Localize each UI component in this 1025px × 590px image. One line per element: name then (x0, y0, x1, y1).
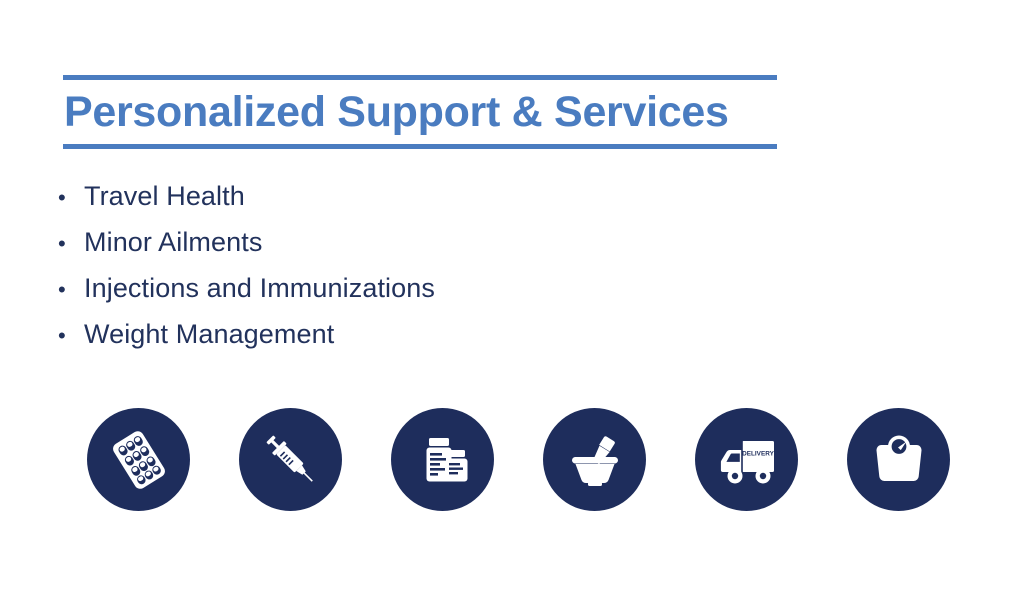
services-bullet-list: • Travel Health • Minor Ailments • Injec… (55, 181, 435, 365)
list-item-label: Minor Ailments (84, 227, 262, 258)
icon-circle-delivery-truck: DELIVERY (695, 408, 798, 511)
mortar-and-pestle-icon (561, 426, 629, 494)
blister-pack-icon (105, 426, 173, 494)
icon-circle-mortar-and-pestle (543, 408, 646, 511)
title-rule-bottom (63, 144, 777, 149)
icon-circle-syringe (239, 408, 342, 511)
list-item: • Injections and Immunizations (55, 273, 435, 319)
icon-circle-weight-scale (847, 408, 950, 511)
icon-circle-pill-bottles (391, 408, 494, 511)
bullet-marker-icon: • (55, 233, 84, 255)
list-item: • Weight Management (55, 319, 435, 365)
list-item-label: Weight Management (84, 319, 334, 350)
syringe-icon (257, 426, 325, 494)
bullet-marker-icon: • (55, 187, 84, 209)
list-item: • Minor Ailments (55, 227, 435, 273)
list-item-label: Injections and Immunizations (84, 273, 435, 304)
slide-canvas: Personalized Support & Services • Travel… (0, 0, 1025, 590)
delivery-truck-icon: DELIVERY (711, 424, 783, 496)
bullet-marker-icon: • (55, 325, 84, 347)
pill-bottles-icon (409, 426, 477, 494)
title-block: Personalized Support & Services (63, 75, 777, 149)
truck-delivery-label: DELIVERY (742, 450, 774, 457)
weight-scale-icon (865, 426, 933, 494)
list-item-label: Travel Health (84, 181, 245, 212)
icon-row: DELIVERY (87, 408, 950, 511)
page-title: Personalized Support & Services (63, 80, 777, 144)
bullet-marker-icon: • (55, 279, 84, 301)
icon-circle-blister-pack (87, 408, 190, 511)
list-item: • Travel Health (55, 181, 435, 227)
